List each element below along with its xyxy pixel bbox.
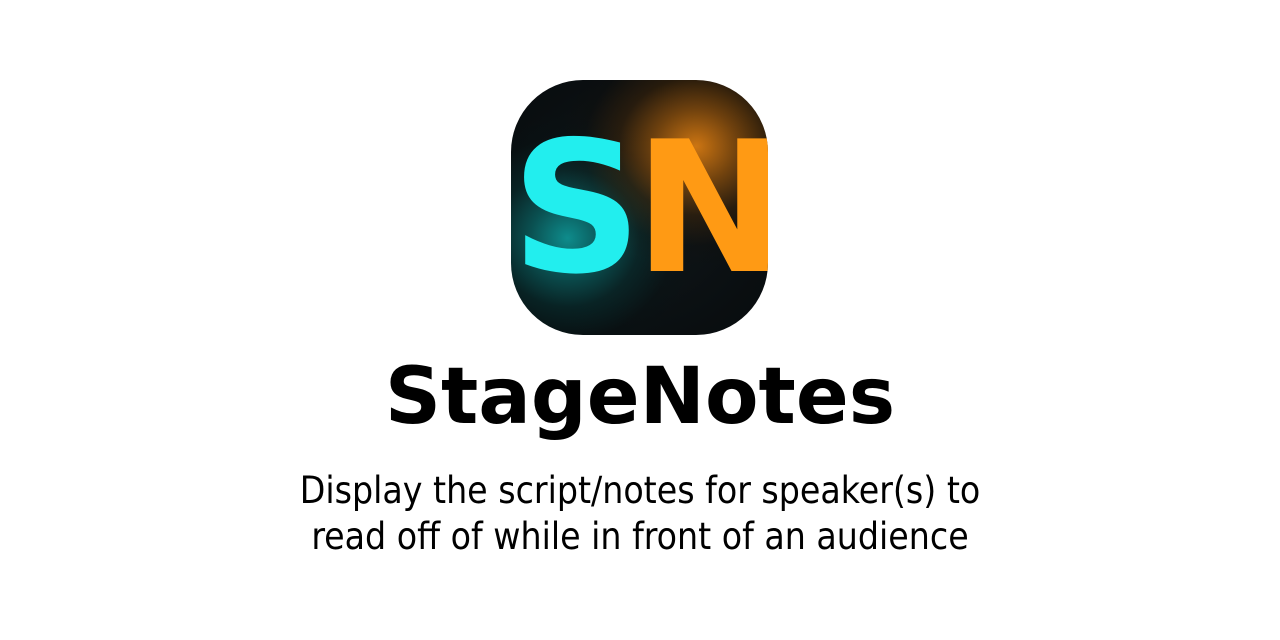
splash-screen: SN StageNotes Display the script/notes f… <box>0 0 1280 640</box>
app-icon-monogram: SN <box>511 117 768 299</box>
app-tagline-line-2: read off of while in front of an audienc… <box>0 514 1280 560</box>
app-tagline-line-1: Display the script/notes for speaker(s) … <box>0 468 1280 514</box>
monogram-letter-s: S <box>511 102 634 314</box>
monogram-letter-n: N <box>634 102 768 314</box>
app-tagline: Display the script/notes for speaker(s) … <box>0 468 1280 560</box>
stagenotes-app-icon: SN <box>511 80 768 335</box>
app-title: StageNotes <box>0 358 1280 436</box>
